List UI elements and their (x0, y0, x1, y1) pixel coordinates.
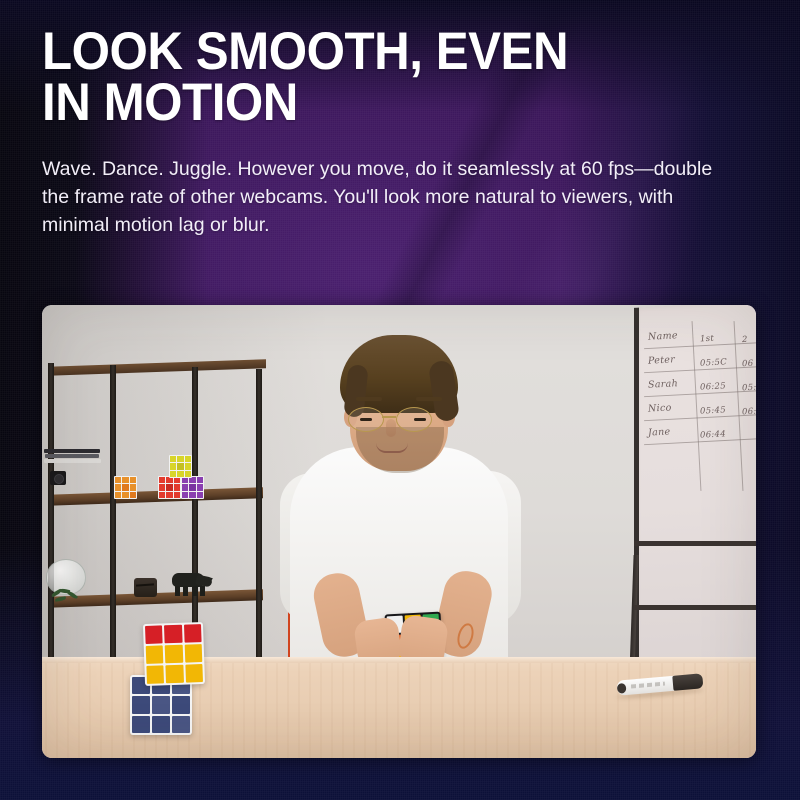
cube-sticker (189, 484, 195, 490)
cube-sticker (152, 716, 170, 733)
whiteboard-frame-rail (634, 541, 756, 546)
cube-sticker (122, 484, 128, 490)
whiteboard-row-name: Jane (648, 427, 671, 439)
cube-sticker (166, 492, 172, 498)
cube-sticker (130, 492, 136, 498)
eye-left (360, 418, 372, 421)
mini-rubiks-cube (114, 476, 137, 499)
cube-sticker (185, 456, 191, 462)
mini-rubiks-cube (181, 476, 204, 499)
cube-sticker (184, 644, 202, 663)
cube-sticker (177, 456, 183, 462)
whiteboard-frame-rail (634, 605, 756, 610)
cube-sticker (145, 625, 163, 644)
camera-object (50, 471, 66, 485)
cube-sticker (130, 484, 136, 490)
cube-sticker (170, 471, 176, 477)
cube-sticker (174, 484, 180, 490)
mouth-smile (376, 443, 408, 453)
marker-cap (672, 673, 703, 691)
cube-sticker (197, 484, 203, 490)
cube-sticker (166, 484, 172, 490)
whiteboard-row-name: Sarah (648, 378, 679, 391)
cube-sticker (152, 696, 170, 713)
cube-sticker (159, 477, 165, 483)
cube-sticker (146, 645, 164, 664)
hero-photo: Name1st2Peter05:5C06Sarah06:2505:Nico05:… (42, 305, 756, 758)
cube-sticker (197, 492, 203, 498)
body-paragraph: Wave. Dance. Juggle. However you move, d… (42, 155, 742, 239)
nose (386, 419, 396, 437)
promo-slide: LOOK SMOOTH, EVEN IN MOTION Wave. Dance.… (0, 0, 800, 800)
marker-tip (617, 682, 627, 693)
page-title: LOOK SMOOTH, EVEN IN MOTION (42, 26, 712, 129)
shelf-post (110, 365, 116, 665)
eyebrow-left (356, 397, 382, 401)
cube-sticker (177, 463, 183, 469)
cube-sticker (170, 456, 176, 462)
whiteboard-row-name: Nico (648, 403, 672, 415)
cube-sticker (159, 492, 165, 498)
wood-stump-object (134, 578, 157, 597)
cube-sticker (146, 665, 164, 684)
headline-line-1: LOOK SMOOTH, EVEN (42, 22, 568, 81)
mini-rubiks-cube (158, 476, 181, 499)
cube-sticker (115, 484, 121, 490)
whiteboard-row-name: Peter (648, 354, 676, 366)
cube-sticker (165, 645, 183, 664)
cube-sticker (197, 477, 203, 483)
rhino-figurine (166, 571, 212, 596)
cube-sticker (185, 664, 203, 683)
glasses-bridge (382, 416, 396, 418)
cube-sticker (182, 492, 188, 498)
cube-sticker (170, 463, 176, 469)
cube-sticker (132, 696, 150, 713)
cube-sticker (115, 477, 121, 483)
shelving-unit (48, 363, 266, 663)
cube-sticker (166, 665, 184, 684)
hair (340, 335, 458, 413)
cube-sticker (172, 716, 190, 733)
eye-right (414, 418, 426, 421)
cube-sticker (182, 484, 188, 490)
mini-rubiks-cube (169, 455, 192, 478)
shelf-post (256, 369, 262, 669)
terrarium-plant (51, 589, 81, 605)
stacked-rubiks-cubes (130, 623, 222, 731)
cube-sticker (122, 492, 128, 498)
eyebrow-right (416, 397, 442, 401)
cube-sticker (184, 624, 202, 643)
cube-sticker (130, 477, 136, 483)
whiteboard-row-time-2: 06: (742, 407, 756, 418)
copy-block: LOOK SMOOTH, EVEN IN MOTION Wave. Dance.… (42, 26, 762, 239)
cube-sticker (122, 477, 128, 483)
cube-sticker (174, 492, 180, 498)
terrarium (46, 559, 86, 603)
cube-sticker (172, 696, 190, 713)
person-subject (282, 323, 517, 675)
whiteboard-row-name: Name (648, 330, 678, 343)
cube-sticker (115, 492, 121, 498)
cube-sticker (164, 625, 182, 644)
shelf-board (48, 487, 263, 506)
cube-sticker (185, 471, 191, 477)
shelf-post (48, 363, 54, 663)
rubiks-cube-top (143, 622, 205, 686)
whiteboard-row-time-1: 1st (700, 334, 715, 345)
cube-sticker (185, 463, 191, 469)
cube-sticker (189, 492, 195, 498)
cube-sticker (159, 484, 165, 490)
cube-sticker (177, 471, 183, 477)
cube-sticker (132, 716, 150, 733)
headline-line-2: IN MOTION (42, 77, 712, 128)
books-stack (44, 449, 102, 473)
